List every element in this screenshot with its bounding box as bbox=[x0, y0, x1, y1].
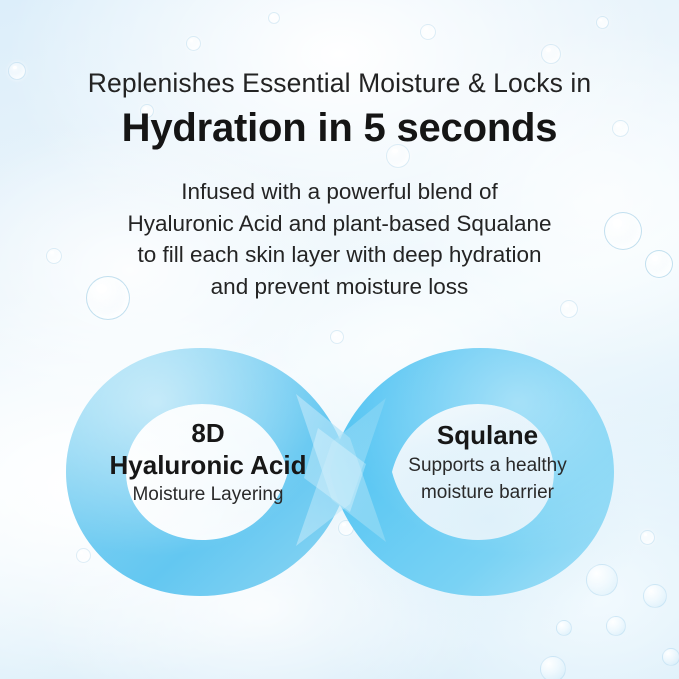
left-loop-title-line-1: 8D bbox=[78, 418, 338, 449]
bubble-icon bbox=[186, 36, 201, 51]
bubble-icon bbox=[540, 656, 566, 679]
headline-line-1: Replenishes Essential Moisture & Locks i… bbox=[0, 68, 679, 99]
page-title: Hydration in 5 seconds bbox=[0, 106, 679, 151]
body-copy-line-2: Hyaluronic Acid and plant-based Squalane bbox=[0, 208, 679, 240]
right-loop-subtitle-line-2: moisture barrier bbox=[370, 479, 605, 506]
right-loop-label: Squlane Supports a healthy moisture barr… bbox=[370, 418, 605, 506]
right-loop-subtitle-line-1: Supports a healthy bbox=[370, 452, 605, 479]
bubble-icon bbox=[420, 24, 436, 40]
bubble-icon bbox=[640, 530, 655, 545]
body-copy: Infused with a powerful blend of Hyaluro… bbox=[0, 176, 679, 302]
bubble-icon bbox=[556, 620, 572, 636]
left-loop-subtitle: Moisture Layering bbox=[78, 481, 338, 508]
bubble-icon bbox=[643, 584, 667, 608]
right-loop-title: Squlane bbox=[370, 418, 605, 452]
bubble-icon bbox=[268, 12, 280, 24]
product-feature-poster: Replenishes Essential Moisture & Locks i… bbox=[0, 0, 679, 679]
left-loop-label: 8D Hyaluronic Acid Moisture Layering bbox=[78, 418, 338, 508]
bubble-icon bbox=[541, 44, 561, 64]
bubble-icon bbox=[662, 648, 679, 666]
body-copy-line-3: to fill each skin layer with deep hydrat… bbox=[0, 239, 679, 271]
bubble-icon bbox=[596, 16, 609, 29]
body-copy-line-4: and prevent moisture loss bbox=[0, 271, 679, 303]
bubble-icon bbox=[606, 616, 626, 636]
left-loop-title-line-2: Hyaluronic Acid bbox=[78, 449, 338, 481]
body-copy-line-1: Infused with a powerful blend of bbox=[0, 176, 679, 208]
bubble-icon bbox=[560, 300, 578, 318]
